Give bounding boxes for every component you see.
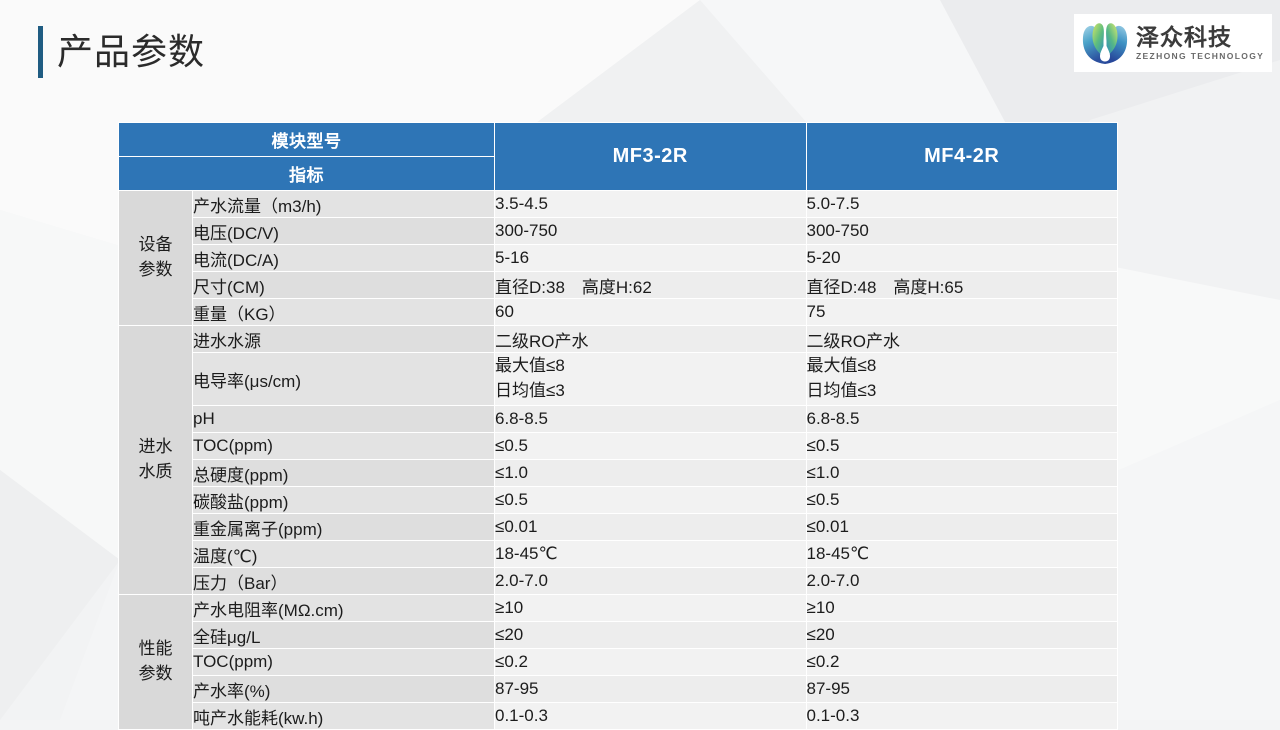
page-title-block: 产品参数 <box>38 24 205 80</box>
table-row: 设备参数产水流量（m3/h)3.5-4.55.0-7.5 <box>119 191 1118 218</box>
spec-label-cell: 碳酸盐(ppm) <box>193 487 495 514</box>
section-group-label: 设备参数 <box>119 191 193 326</box>
table-row: 性能参数产水电阻率(MΩ.cm)≥10≥10 <box>119 595 1118 622</box>
table-row: pH6.8-8.56.8-8.5 <box>119 406 1118 433</box>
spec-value-line: 日均值≤3 <box>807 379 1118 404</box>
spec-value-cell: 3.5-4.5 <box>495 191 807 218</box>
spec-value-cell: ≥10 <box>495 595 807 622</box>
spec-value-line: 最大值≤8 <box>495 354 806 379</box>
section-group-line: 参数 <box>119 662 192 687</box>
spec-value-cell: 300-750 <box>495 218 807 245</box>
section-group-line: 参数 <box>119 258 192 283</box>
header-corner-bottom: 指标 <box>119 157 495 191</box>
spec-value-cell: 75 <box>806 299 1118 326</box>
section-group-label: 进水水质 <box>119 326 193 595</box>
table-body: 设备参数产水流量（m3/h)3.5-4.55.0-7.5电压(DC/V)300-… <box>119 191 1118 730</box>
table-row: 压力（Bar）2.0-7.02.0-7.0 <box>119 568 1118 595</box>
spec-label-cell: 电流(DC/A) <box>193 245 495 272</box>
section-group-line: 水质 <box>119 460 192 485</box>
spec-value-cell: 最大值≤8日均值≤3 <box>806 353 1118 406</box>
spec-value-cell: 二级RO产水 <box>495 326 807 353</box>
spec-value-cell: 6.8-8.5 <box>495 406 807 433</box>
spec-label-cell: 产水电阻率(MΩ.cm) <box>193 595 495 622</box>
spec-label-cell: TOC(ppm) <box>193 649 495 676</box>
spec-label-cell: 压力（Bar） <box>193 568 495 595</box>
spec-value-cell: ≤0.2 <box>495 649 807 676</box>
spec-value-cell: 直径D:38 高度H:62 <box>495 272 807 299</box>
spec-value-cell: ≤0.5 <box>495 433 807 460</box>
table-header: 模块型号 MF3-2R MF4-2R 指标 <box>119 123 1118 191</box>
table-row: TOC(ppm)≤0.2≤0.2 <box>119 649 1118 676</box>
spec-value-cell: 87-95 <box>806 676 1118 703</box>
spec-value-cell: ≤1.0 <box>495 460 807 487</box>
spec-value-cell: ≤20 <box>495 622 807 649</box>
table-row: 电压(DC/V)300-750300-750 <box>119 218 1118 245</box>
spec-value-cell: ≤20 <box>806 622 1118 649</box>
spec-label-cell: TOC(ppm) <box>193 433 495 460</box>
spec-label-cell: 尺寸(CM) <box>193 272 495 299</box>
table-row: 全硅μg/L≤20≤20 <box>119 622 1118 649</box>
spec-value-cell: 300-750 <box>806 218 1118 245</box>
product-spec-table-container: 模块型号 MF3-2R MF4-2R 指标 设备参数产水流量（m3/h)3.5-… <box>118 122 1117 730</box>
spec-label-cell: 电导率(μs/cm) <box>193 353 495 406</box>
spec-value-cell: ≤0.5 <box>806 433 1118 460</box>
table-row: 总硬度(ppm)≤1.0≤1.0 <box>119 460 1118 487</box>
logo-company-name-cn: 泽众科技 <box>1136 25 1264 49</box>
spec-value-cell: 87-95 <box>495 676 807 703</box>
spec-value-cell: 0.1-0.3 <box>806 703 1118 730</box>
spec-label-cell: 电压(DC/V) <box>193 218 495 245</box>
spec-label-cell: 总硬度(ppm) <box>193 460 495 487</box>
spec-value-cell: 二级RO产水 <box>806 326 1118 353</box>
section-group-label: 性能参数 <box>119 595 193 730</box>
spec-value-line: 最大值≤8 <box>807 354 1118 379</box>
spec-value-cell: ≤0.2 <box>806 649 1118 676</box>
spec-value-cell: 5.0-7.5 <box>806 191 1118 218</box>
spec-value-cell: 6.8-8.5 <box>806 406 1118 433</box>
table-row: 进水水质进水水源二级RO产水二级RO产水 <box>119 326 1118 353</box>
spec-value-cell: ≤0.5 <box>495 487 807 514</box>
section-group-line: 性能 <box>119 637 192 662</box>
leaf-droplet-logo-icon <box>1080 20 1130 66</box>
spec-value-cell: 5-20 <box>806 245 1118 272</box>
logo-company-name-en: ZEZHONG TECHNOLOGY <box>1136 51 1264 61</box>
section-group-line: 进水 <box>119 435 192 460</box>
spec-value-cell: ≥10 <box>806 595 1118 622</box>
spec-label-cell: 重量（KG） <box>193 299 495 326</box>
company-logo: 泽众科技 ZEZHONG TECHNOLOGY <box>1074 14 1272 72</box>
spec-value-cell: ≤0.5 <box>806 487 1118 514</box>
spec-label-cell: 温度(℃) <box>193 541 495 568</box>
spec-value-cell: 5-16 <box>495 245 807 272</box>
header-corner-top: 模块型号 <box>119 123 495 157</box>
spec-value-cell: ≤0.01 <box>806 514 1118 541</box>
spec-value-cell: 60 <box>495 299 807 326</box>
spec-value-cell: 2.0-7.0 <box>495 568 807 595</box>
spec-value-cell: ≤1.0 <box>806 460 1118 487</box>
header-row-model: 模块型号 MF3-2R MF4-2R <box>119 123 1118 157</box>
table-row: 温度(℃)18-45℃18-45℃ <box>119 541 1118 568</box>
spec-value-cell: ≤0.01 <box>495 514 807 541</box>
header-model-mf4-2r: MF4-2R <box>806 123 1118 191</box>
title-accent-bar <box>38 26 43 78</box>
spec-value-cell: 18-45℃ <box>806 541 1118 568</box>
logo-text: 泽众科技 ZEZHONG TECHNOLOGY <box>1136 25 1264 61</box>
spec-label-cell: 产水率(%) <box>193 676 495 703</box>
section-group-line: 设备 <box>119 233 192 258</box>
spec-label-cell: 吨产水能耗(kw.h) <box>193 703 495 730</box>
product-spec-table: 模块型号 MF3-2R MF4-2R 指标 设备参数产水流量（m3/h)3.5-… <box>118 122 1118 730</box>
spec-label-cell: 全硅μg/L <box>193 622 495 649</box>
spec-label-cell: 产水流量（m3/h) <box>193 191 495 218</box>
spec-label-cell: 重金属离子(ppm) <box>193 514 495 541</box>
header-model-mf3-2r: MF3-2R <box>495 123 807 191</box>
spec-value-cell: 18-45℃ <box>495 541 807 568</box>
spec-value-cell: 直径D:48 高度H:65 <box>806 272 1118 299</box>
table-row: 电导率(μs/cm)最大值≤8日均值≤3最大值≤8日均值≤3 <box>119 353 1118 406</box>
spec-value-cell: 2.0-7.0 <box>806 568 1118 595</box>
spec-value-line: 日均值≤3 <box>495 379 806 404</box>
table-row: 重量（KG）6075 <box>119 299 1118 326</box>
spec-value-cell: 最大值≤8日均值≤3 <box>495 353 807 406</box>
page-title: 产品参数 <box>57 34 205 70</box>
table-row: 吨产水能耗(kw.h)0.1-0.30.1-0.3 <box>119 703 1118 730</box>
spec-label-cell: 进水水源 <box>193 326 495 353</box>
spec-value-cell: 0.1-0.3 <box>495 703 807 730</box>
table-row: 重金属离子(ppm)≤0.01≤0.01 <box>119 514 1118 541</box>
spec-label-cell: pH <box>193 406 495 433</box>
table-row: TOC(ppm)≤0.5≤0.5 <box>119 433 1118 460</box>
table-row: 碳酸盐(ppm)≤0.5≤0.5 <box>119 487 1118 514</box>
table-row: 尺寸(CM)直径D:38 高度H:62直径D:48 高度H:65 <box>119 272 1118 299</box>
table-row: 电流(DC/A)5-165-20 <box>119 245 1118 272</box>
table-row: 产水率(%)87-9587-95 <box>119 676 1118 703</box>
